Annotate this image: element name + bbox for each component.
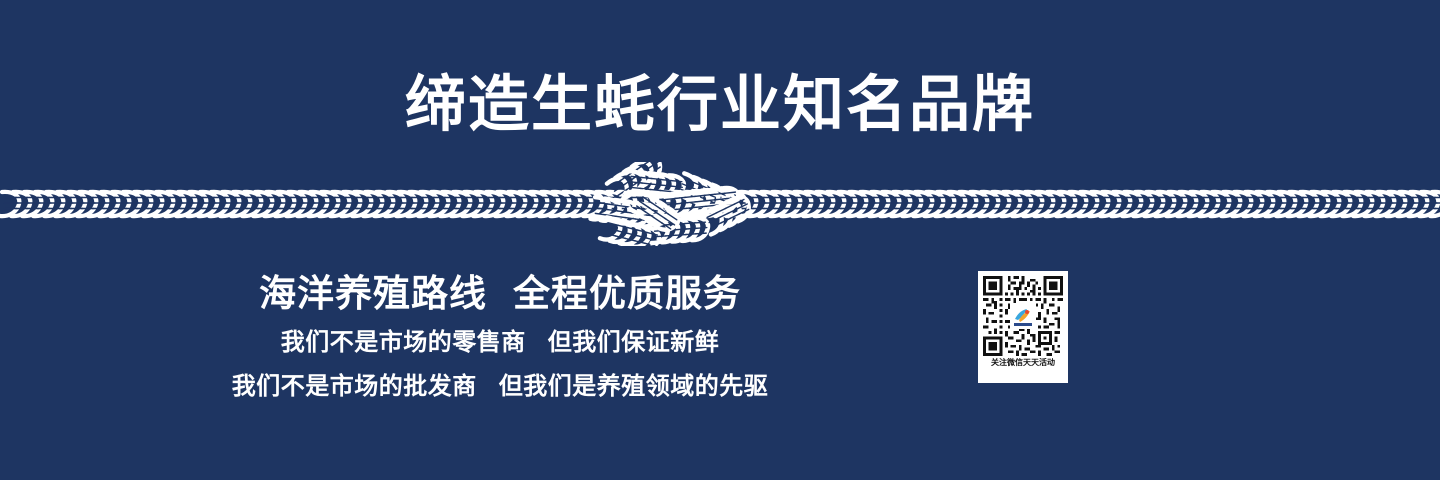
- subheadline-left: 海洋养殖路线: [259, 273, 487, 314]
- qr-caption: 关注微信天天活动: [991, 359, 1055, 367]
- subheadline-right: 全程优质服务: [513, 273, 741, 314]
- qr-card[interactable]: 关注微信天天活动: [978, 271, 1068, 383]
- brand-logo-icon: [1010, 303, 1036, 329]
- body-line-2: 我们不是市场的批发商但我们是养殖领域的先驱: [0, 366, 1000, 401]
- page-title: 缔造生蚝行业知名品牌: [0, 72, 1440, 136]
- body-line-1: 我们不是市场的零售商但我们保证新鲜: [0, 322, 1000, 357]
- promo-banner: 缔造生蚝行业知名品牌: [0, 0, 1440, 480]
- body-line-2-right: 但我们是养殖领域的先驱: [499, 373, 769, 400]
- qr-code-icon[interactable]: [983, 276, 1063, 356]
- subheadline: 海洋养殖路线全程优质服务: [0, 263, 1000, 317]
- rope-knot-icon: [588, 162, 756, 246]
- body-line-1-right: 但我们保证新鲜: [548, 329, 720, 356]
- body-line-1-left: 我们不是市场的零售商: [281, 329, 526, 356]
- body-line-2-left: 我们不是市场的批发商: [232, 373, 477, 400]
